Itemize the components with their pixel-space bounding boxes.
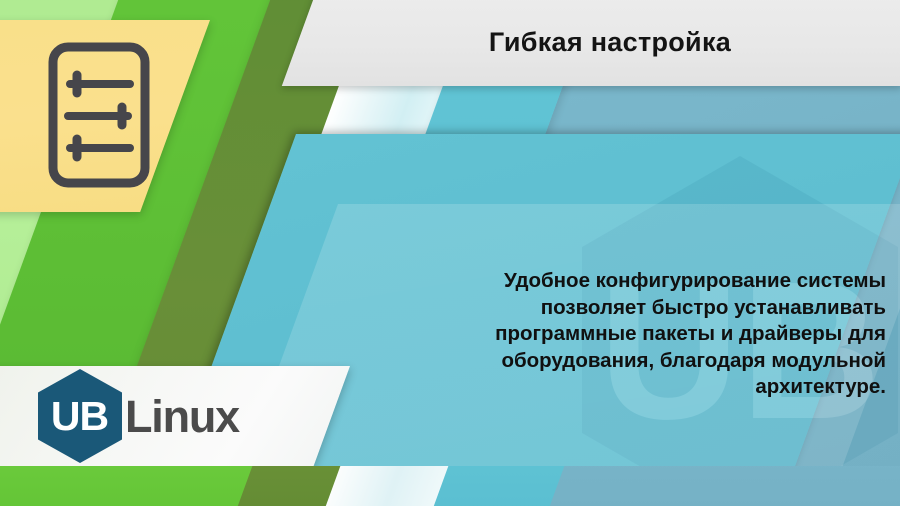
logo-mark-text: UB xyxy=(36,368,124,464)
bottom-band-green xyxy=(0,466,270,506)
ub-hexagon-icon: UB xyxy=(36,368,124,464)
page-title: Гибкая настройка xyxy=(330,22,890,62)
body-paragraph: Удобное конфигурирование системы позволя… xyxy=(410,268,886,401)
bottom-band-blue xyxy=(543,466,900,506)
settings-sliders-icon xyxy=(46,40,152,190)
slide-canvas: UB Удобное конфигурирование системы позв… xyxy=(0,0,900,506)
logo-word-text: Linux xyxy=(125,394,239,439)
bottom-stripe xyxy=(0,466,900,506)
brand-logo: UB Linux xyxy=(36,372,239,460)
